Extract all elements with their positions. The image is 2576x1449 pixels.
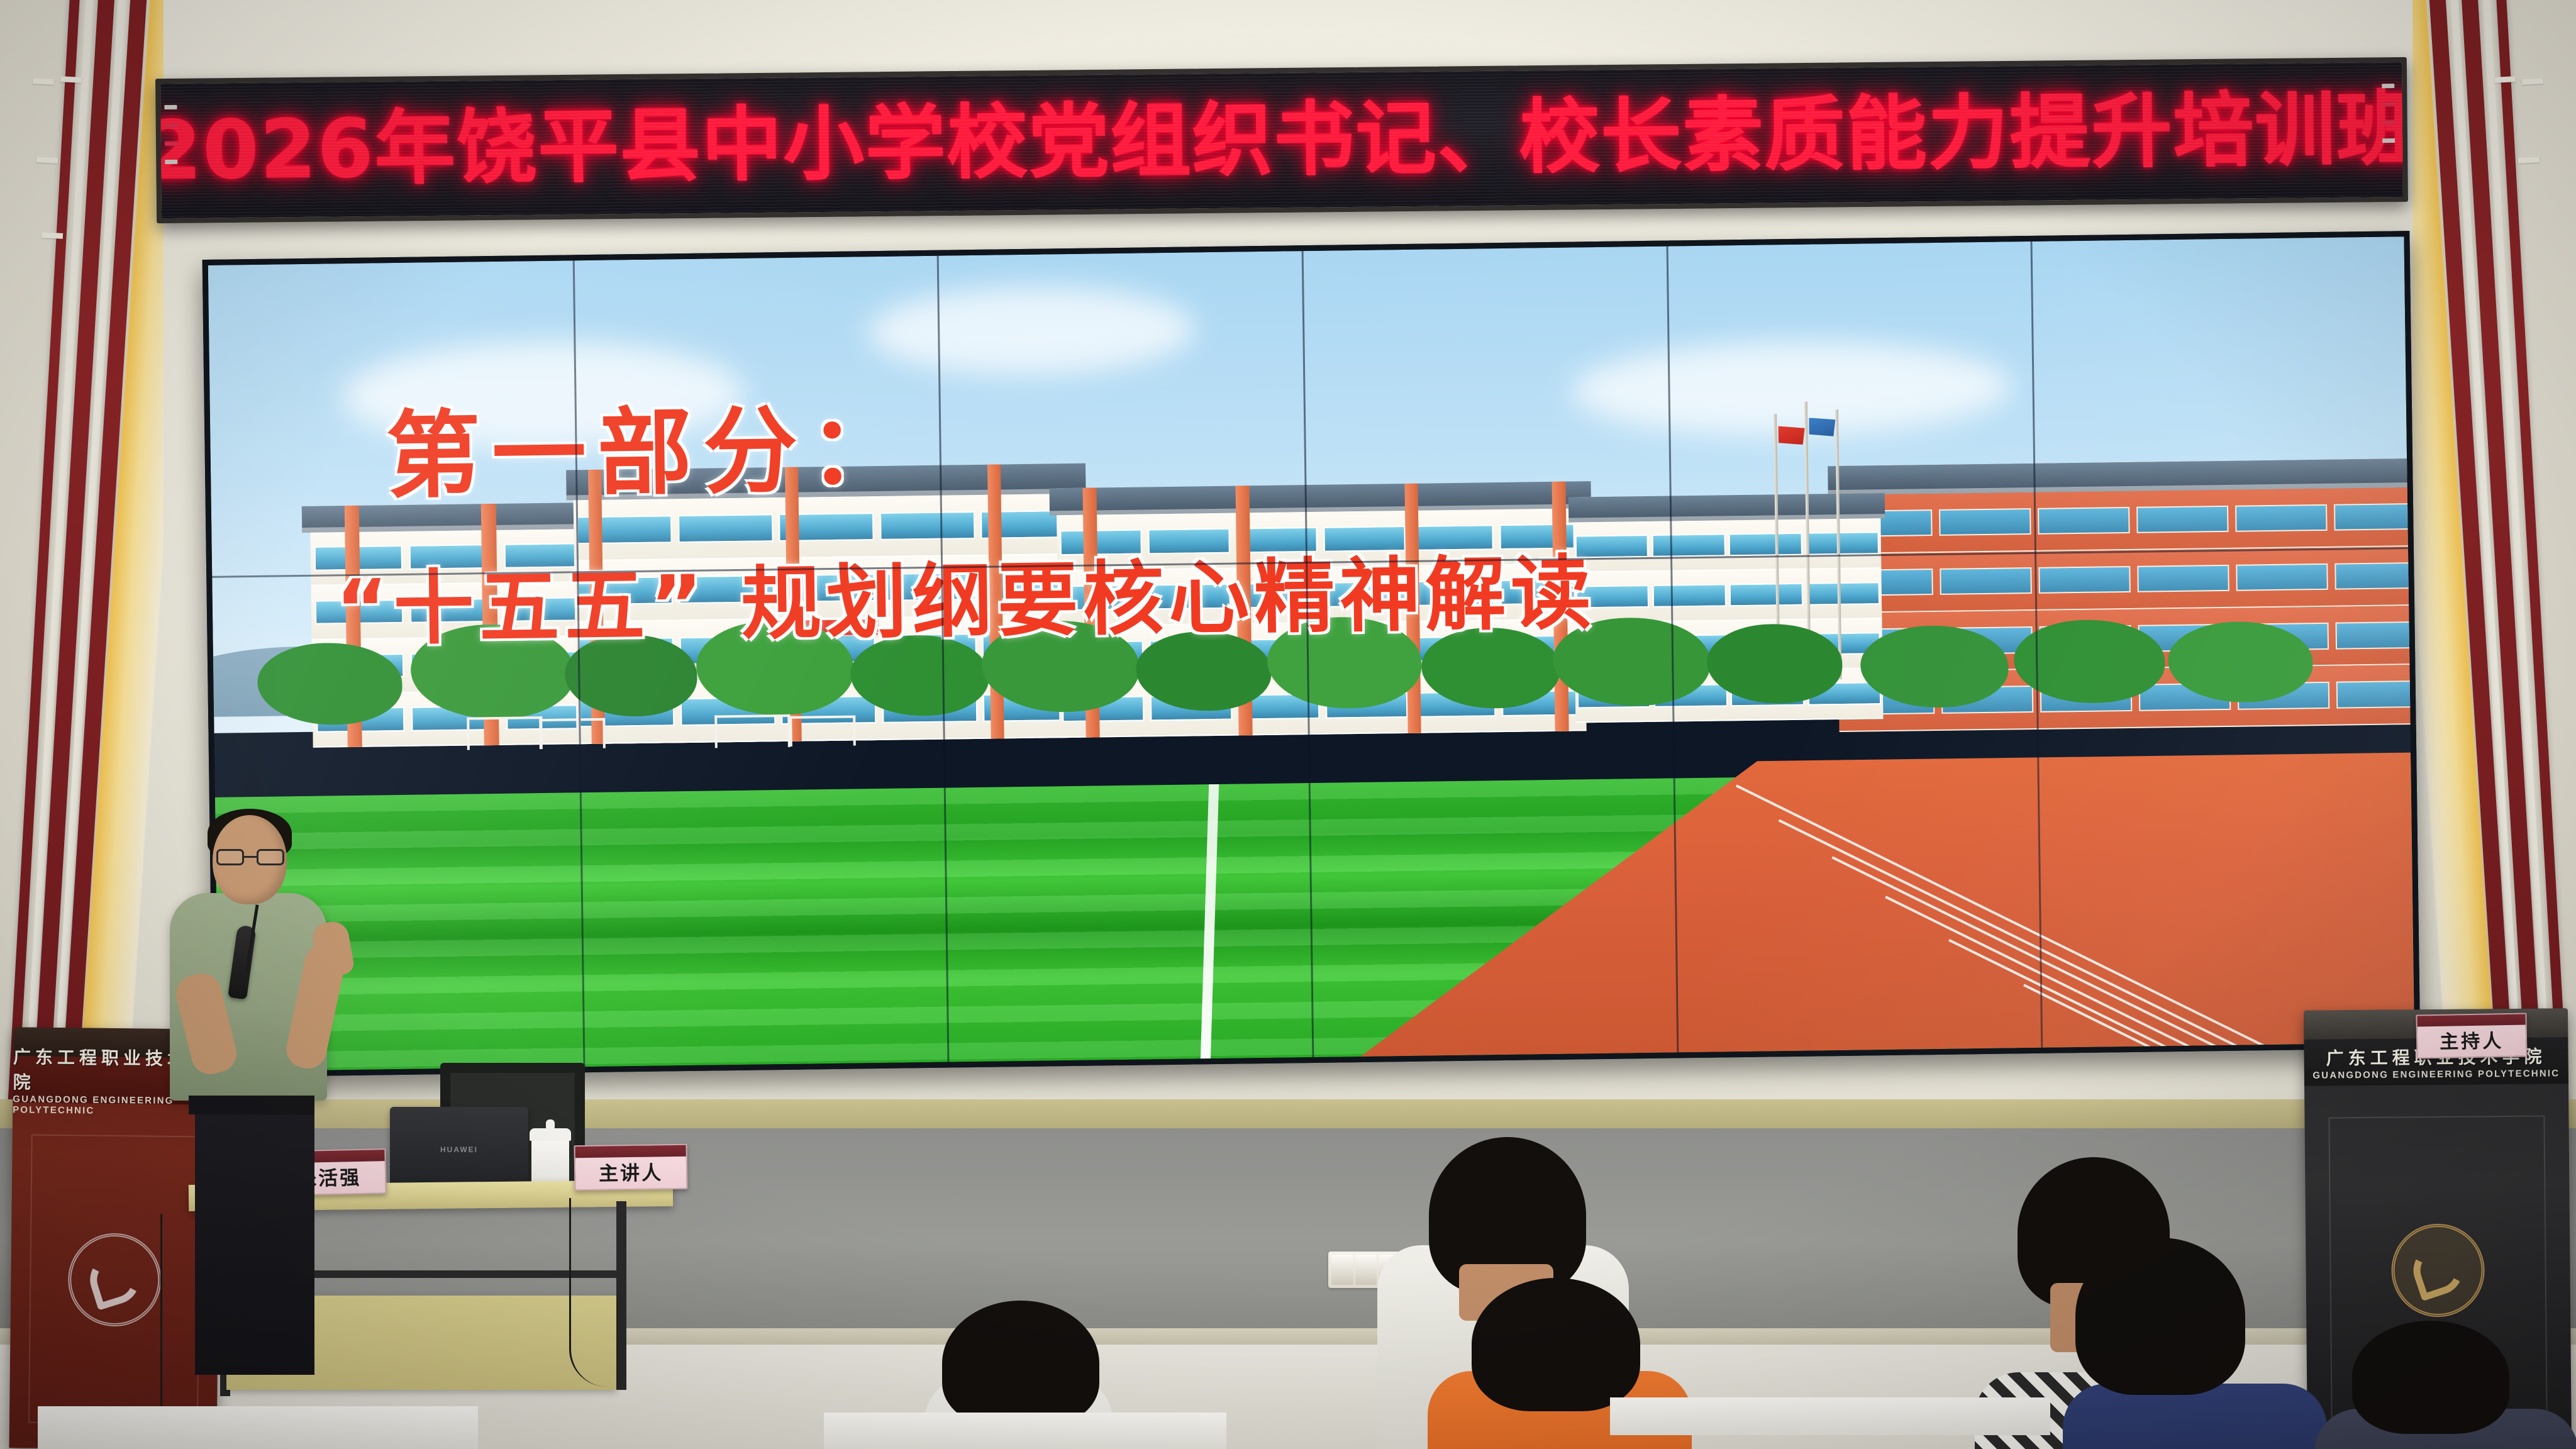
slide-soccer-goal-1 bbox=[467, 716, 543, 750]
slide-subtitle: “十五五” 规划纲要核心精神解读 bbox=[335, 550, 1597, 655]
audience-desk bbox=[38, 1406, 478, 1449]
audience-desk bbox=[1610, 1397, 2050, 1435]
laptop-brand-label: HUAWEI bbox=[440, 1145, 478, 1154]
nameplate-host-text: 主持人 bbox=[2440, 1025, 2504, 1054]
audience-hair bbox=[2075, 1238, 2245, 1395]
audience-hair bbox=[942, 1301, 1099, 1426]
slide-title: 第一部分： bbox=[386, 397, 915, 510]
slide-flag-red bbox=[1779, 426, 1805, 445]
led-edge-dots-right bbox=[2382, 84, 2399, 178]
led-scrolling-banner: 2026年饶平县中小学校党组织书记、校长素质能力提升培训班 bbox=[155, 57, 2408, 223]
video-wall-display[interactable]: 第一部分： “十五五” 规划纲要核心精神解读 bbox=[203, 231, 2421, 1077]
laptop[interactable]: HUAWEI bbox=[390, 1107, 528, 1192]
university-crest-icon bbox=[68, 1233, 162, 1327]
desk-cable bbox=[569, 1198, 626, 1387]
wall-stripe-decor-right bbox=[2412, 0, 2576, 1132]
podium-right-name-en: GUANGDONG ENGINEERING POLYTECHNIC bbox=[2312, 1068, 2560, 1080]
led-edge-dots-left bbox=[164, 105, 181, 199]
speaker-belt bbox=[189, 1096, 314, 1114]
speaker-trousers bbox=[195, 1111, 314, 1375]
presentation-slide: 第一部分： “十五五” 规划纲要核心精神解读 bbox=[208, 236, 2414, 1072]
slide-soccer-goal-3 bbox=[714, 714, 791, 748]
slide-soccer-goal-4 bbox=[789, 716, 856, 747]
slide-soccer-goal-2 bbox=[539, 718, 606, 749]
led-banner-text: 2026年饶平县中小学校党组织书记、校长素质能力提升培训班 bbox=[155, 89, 2408, 192]
nameplate-host: 主持人 bbox=[2416, 1013, 2527, 1058]
nameplate-speaker-role-text: 主讲人 bbox=[599, 1157, 663, 1185]
audience-desk bbox=[824, 1413, 1226, 1449]
nameplate-speaker-role: 主讲人 bbox=[574, 1144, 688, 1191]
wall-stripe-decor-left bbox=[0, 0, 164, 1132]
university-crest-icon bbox=[2391, 1223, 2485, 1317]
glasses-icon bbox=[216, 849, 284, 865]
audience-hair bbox=[2352, 1321, 2509, 1434]
conference-room-photo: 2026年饶平县中小学校党组织书记、校长素质能力提升培训班 bbox=[0, 0, 2576, 1449]
wall-dado-rail bbox=[0, 1099, 2576, 1128]
slide-flag-blue bbox=[1809, 418, 1835, 437]
podium-cable bbox=[160, 1214, 186, 1428]
audience-hair bbox=[1472, 1278, 1640, 1411]
